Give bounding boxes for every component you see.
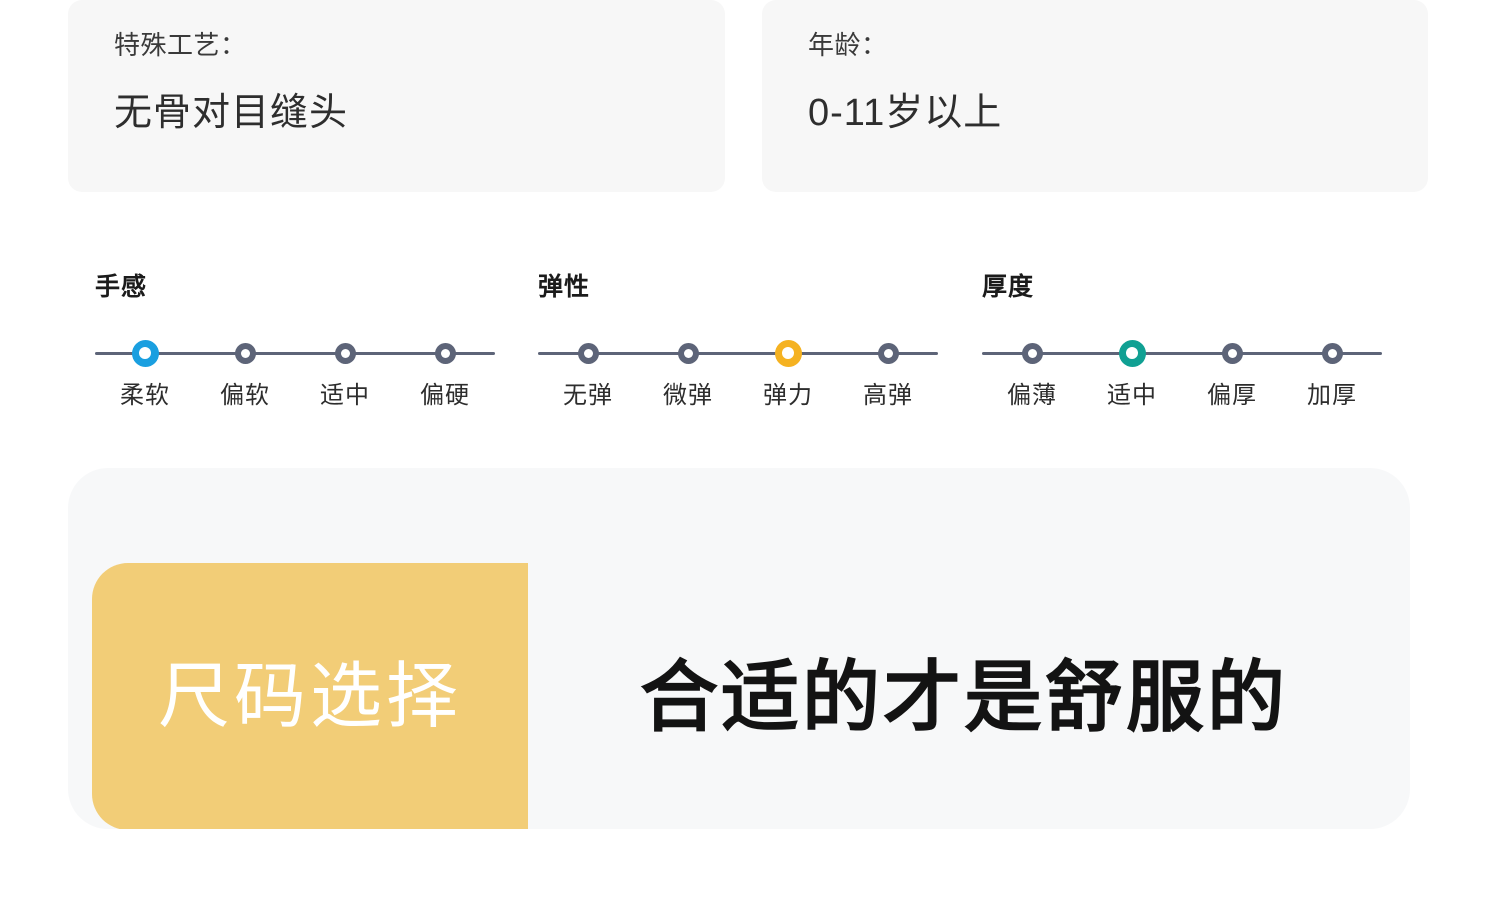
scale-dot-icon[interactable] (1022, 343, 1043, 364)
scale-group-elasticity: 弹性 无 (538, 272, 938, 432)
scale-dot-icon[interactable] (235, 343, 256, 364)
size-selection-banner: 尺码选择 合适的才是舒服的 (68, 468, 1410, 829)
scale-option-label[interactable]: 加厚 (1282, 382, 1382, 411)
banner-headline-text: 合适的才是舒服的 (640, 658, 1288, 736)
scale-dots (538, 338, 938, 368)
scale-dot-cell[interactable] (1082, 338, 1182, 368)
size-selection-tag: 尺码选择 (92, 563, 528, 829)
scale-option-label[interactable]: 偏软 (195, 382, 295, 411)
scale-dot-icon[interactable] (878, 343, 899, 364)
scale-dot-cell[interactable] (1182, 338, 1282, 368)
scale-dot-cell[interactable] (838, 338, 938, 368)
scale-option-label[interactable]: 偏厚 (1182, 382, 1282, 411)
info-card-label: 特殊工艺： (114, 30, 725, 61)
scale-dot-cell[interactable] (95, 338, 195, 368)
info-card-label: 年龄： (808, 30, 1428, 61)
scale-title: 弹性 (538, 272, 938, 302)
scale-dot-cell[interactable] (638, 338, 738, 368)
scale-dots (95, 338, 495, 368)
info-card-value: 无骨对目缝头 (114, 91, 725, 137)
scale-dot-icon[interactable] (435, 343, 456, 364)
scale-option-label[interactable]: 高弹 (838, 382, 938, 411)
banner-headline: 合适的才是舒服的 (640, 563, 1288, 829)
scale-option-label[interactable]: 无弹 (538, 382, 638, 411)
scale-dot-cell[interactable] (982, 338, 1082, 368)
scale-dot-active-icon[interactable] (132, 340, 159, 367)
scale-dot-icon[interactable] (578, 343, 599, 364)
scale-group-handfeel: 手感 柔 (95, 272, 495, 432)
scale-labels: 柔软 偏软 适中 偏硬 (95, 382, 495, 411)
scale-dot-icon[interactable] (678, 343, 699, 364)
scale-dot-cell[interactable] (295, 338, 395, 368)
scale-dot-cell[interactable] (195, 338, 295, 368)
scale-group-thickness: 厚度 偏 (982, 272, 1382, 432)
scale-dots (982, 338, 1382, 368)
scale-dot-active-icon[interactable] (775, 340, 802, 367)
scale-track[interactable] (982, 338, 1382, 368)
scale-dot-icon[interactable] (1322, 343, 1343, 364)
scale-option-label[interactable]: 偏硬 (395, 382, 495, 411)
info-card-age: 年龄： 0-11岁以上 (762, 0, 1428, 192)
scale-groups: 手感 柔 (0, 272, 1499, 432)
info-cards-row: 特殊工艺： 无骨对目缝头 年龄： 0-11岁以上 (68, 0, 1428, 192)
scale-dot-cell[interactable] (395, 338, 495, 368)
scale-option-label[interactable]: 微弹 (638, 382, 738, 411)
scale-title: 手感 (95, 272, 495, 302)
scale-option-label[interactable]: 柔软 (95, 382, 195, 411)
scale-option-label[interactable]: 偏薄 (982, 382, 1082, 411)
info-card-value: 0-11岁以上 (808, 91, 1428, 137)
scale-dot-cell[interactable] (738, 338, 838, 368)
scale-option-label[interactable]: 适中 (295, 382, 395, 411)
info-card-special-craft: 特殊工艺： 无骨对目缝头 (68, 0, 725, 192)
scale-dot-active-icon[interactable] (1119, 340, 1146, 367)
product-attributes-page: 特殊工艺： 无骨对目缝头 年龄： 0-11岁以上 手感 (0, 0, 1499, 921)
scale-dot-cell[interactable] (538, 338, 638, 368)
scale-dot-icon[interactable] (335, 343, 356, 364)
scale-track[interactable] (95, 338, 495, 368)
scale-dot-icon[interactable] (1222, 343, 1243, 364)
scale-title: 厚度 (982, 272, 1382, 302)
scale-labels: 偏薄 适中 偏厚 加厚 (982, 382, 1382, 411)
scale-track[interactable] (538, 338, 938, 368)
scale-dot-cell[interactable] (1282, 338, 1382, 368)
scale-option-label[interactable]: 适中 (1082, 382, 1182, 411)
scale-labels: 无弹 微弹 弹力 高弹 (538, 382, 938, 411)
size-selection-tag-label: 尺码选择 (158, 661, 462, 733)
scale-option-label[interactable]: 弹力 (738, 382, 838, 411)
